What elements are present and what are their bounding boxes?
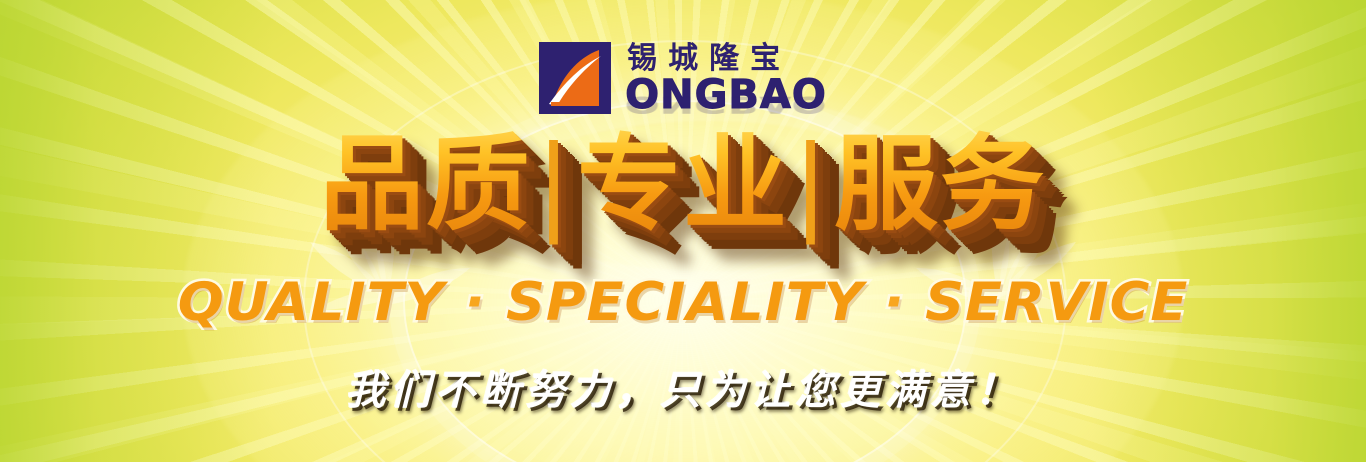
english-item-quality: QUALITY [178,272,445,333]
brand-name-chinese: 锡城隆宝 [627,44,827,74]
sail-book-logo-icon [539,42,611,114]
promotional-banner: 锡城隆宝 ONGBAO ONGBAO 品质|专业|服务 QUALITY · SP… [0,0,1366,462]
english-subtitle: QUALITY · SPECIALITY · SERVICE [0,272,1366,333]
headline: 品质|专业|服务 [0,128,1366,240]
sail-shape-icon [539,42,611,114]
english-item-speciality: SPECIALITY [506,272,864,333]
headline-separator: | [789,123,834,245]
tagline: 我们不断努力，只为让您更满意！ [0,358,1366,416]
brand-logo: 锡城隆宝 ONGBAO ONGBAO [0,42,1366,115]
brand-wordmark: 锡城隆宝 ONGBAO ONGBAO [625,42,827,115]
english-separator: · [465,272,487,333]
headline-item-quality: 品质 [320,123,532,245]
brand-name-latin: ONGBAO [625,75,827,115]
english-item-service: SERVICE [925,272,1188,333]
headline-separator: | [532,123,577,245]
english-separator: · [884,272,906,333]
headline-item-speciality: 专业 [577,123,789,245]
headline-item-service: 服务 [834,123,1046,245]
